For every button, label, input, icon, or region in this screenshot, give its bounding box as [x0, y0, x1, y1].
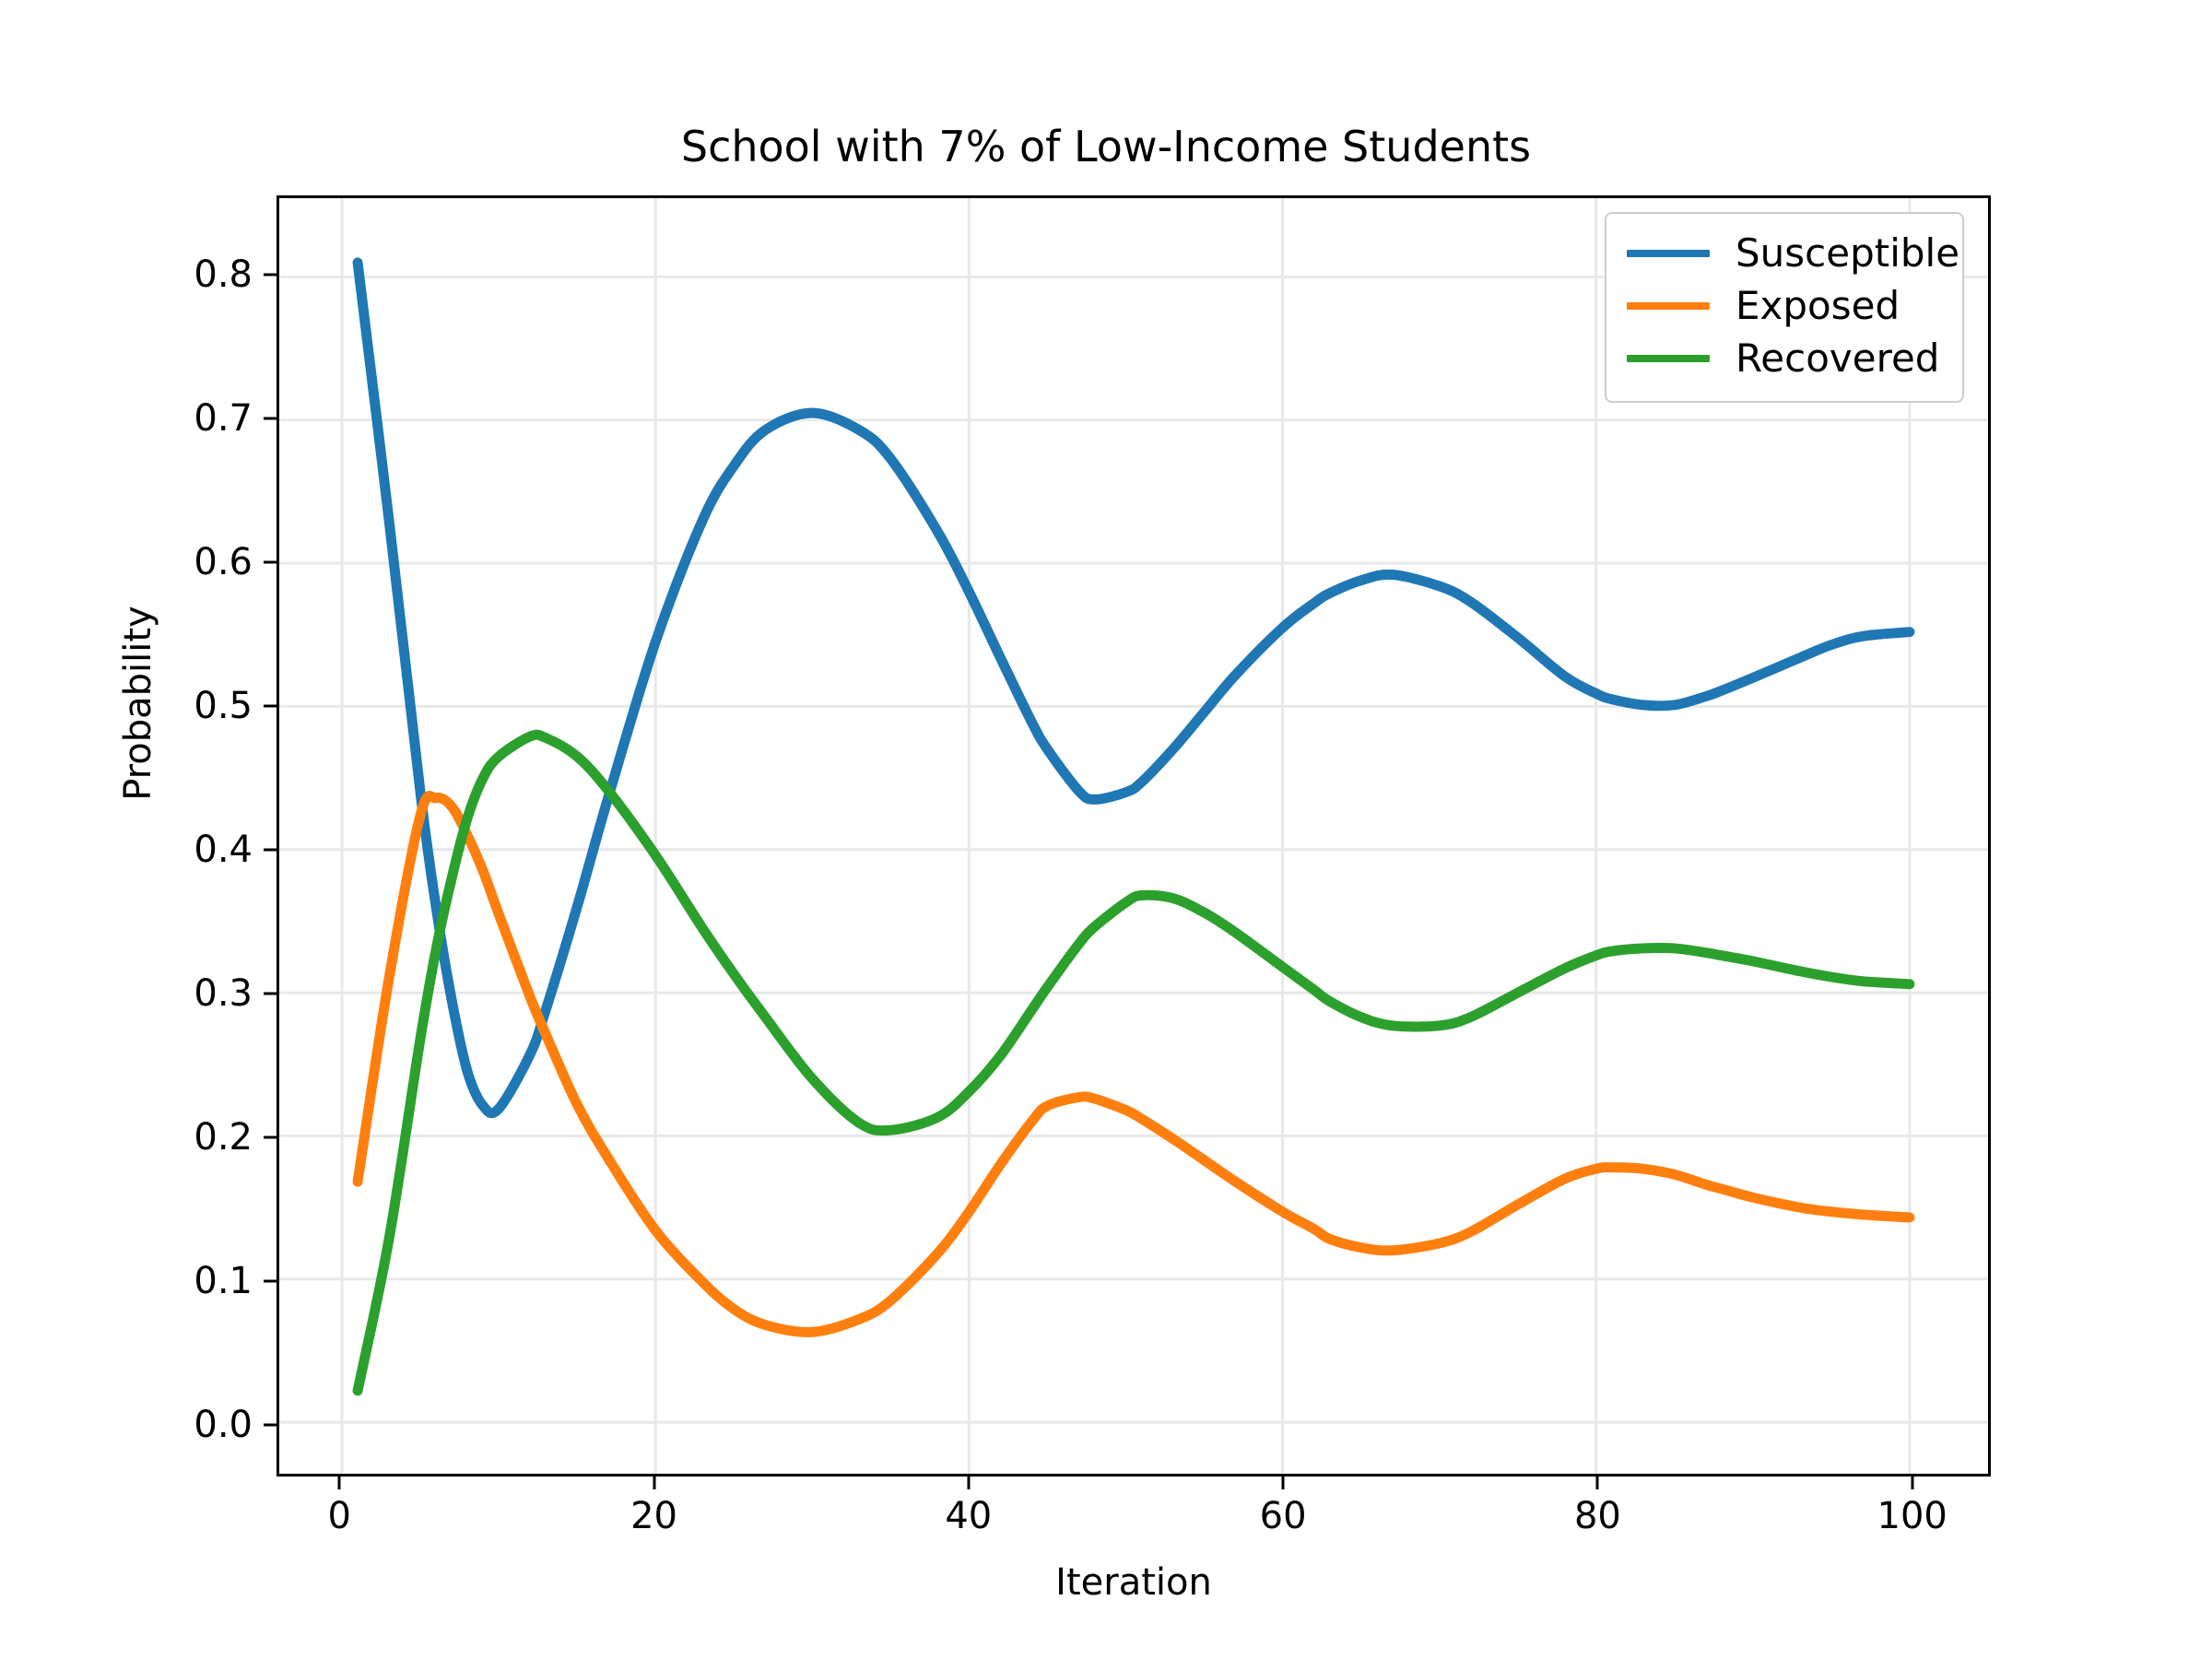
y-tick-label: 0.5: [194, 685, 253, 727]
y-tick-mark: [264, 560, 276, 563]
series-lines: [358, 263, 1910, 1391]
legend-label: Susceptible: [1735, 234, 1959, 273]
y-tick-mark: [264, 704, 276, 707]
y-axis-label: Probability: [117, 519, 159, 888]
legend-item-exposed[interactable]: Exposed: [1627, 279, 1942, 332]
y-tick-label: 0.2: [194, 1116, 253, 1159]
x-tick-label: 40: [945, 1495, 992, 1537]
y-tick-mark: [264, 417, 276, 419]
y-tick-label: 0.0: [194, 1404, 253, 1446]
x-tick-mark: [1282, 1477, 1285, 1489]
y-tick-mark: [264, 848, 276, 851]
y-tick-mark: [264, 273, 276, 276]
legend-label: Exposed: [1735, 287, 1900, 325]
legend[interactable]: SusceptibleExposedRecovered: [1605, 212, 1964, 403]
y-tick-label: 0.4: [194, 829, 253, 871]
x-tick-mark: [653, 1477, 655, 1489]
y-tick-mark: [264, 1135, 276, 1138]
legend-swatch-exposed: [1627, 302, 1710, 310]
y-tick-label: 0.6: [194, 541, 253, 583]
chart-title: School with 7% of Low-Income Students: [0, 122, 2212, 171]
legend-swatch-susceptible: [1627, 250, 1710, 257]
x-tick-mark: [1596, 1477, 1599, 1489]
x-tick-label: 20: [630, 1495, 677, 1537]
x-axis-label: Iteration: [276, 1561, 1991, 1604]
x-tick-mark: [338, 1477, 341, 1489]
legend-swatch-recovered: [1627, 355, 1710, 362]
x-tick-label: 100: [1877, 1495, 1947, 1537]
legend-label: Recovered: [1735, 339, 1939, 378]
y-tick-mark: [264, 1279, 276, 1282]
series-line-recovered: [358, 735, 1910, 1391]
x-tick-mark: [1911, 1477, 1913, 1489]
y-tick-mark: [264, 1423, 276, 1426]
y-tick-mark: [264, 992, 276, 994]
legend-item-susceptible[interactable]: Susceptible: [1627, 227, 1942, 279]
y-tick-label: 0.3: [194, 972, 253, 1015]
y-tick-label: 0.1: [194, 1260, 253, 1302]
figure-canvas: School with 7% of Low-Income Students Pr…: [0, 0, 2212, 1659]
y-tick-label: 0.8: [194, 253, 253, 296]
x-tick-mark: [967, 1477, 970, 1489]
x-tick-label: 60: [1260, 1495, 1307, 1537]
legend-item-recovered[interactable]: Recovered: [1627, 332, 1942, 384]
y-tick-label: 0.7: [194, 397, 253, 440]
x-tick-label: 80: [1574, 1495, 1621, 1537]
x-tick-label: 0: [328, 1495, 351, 1537]
